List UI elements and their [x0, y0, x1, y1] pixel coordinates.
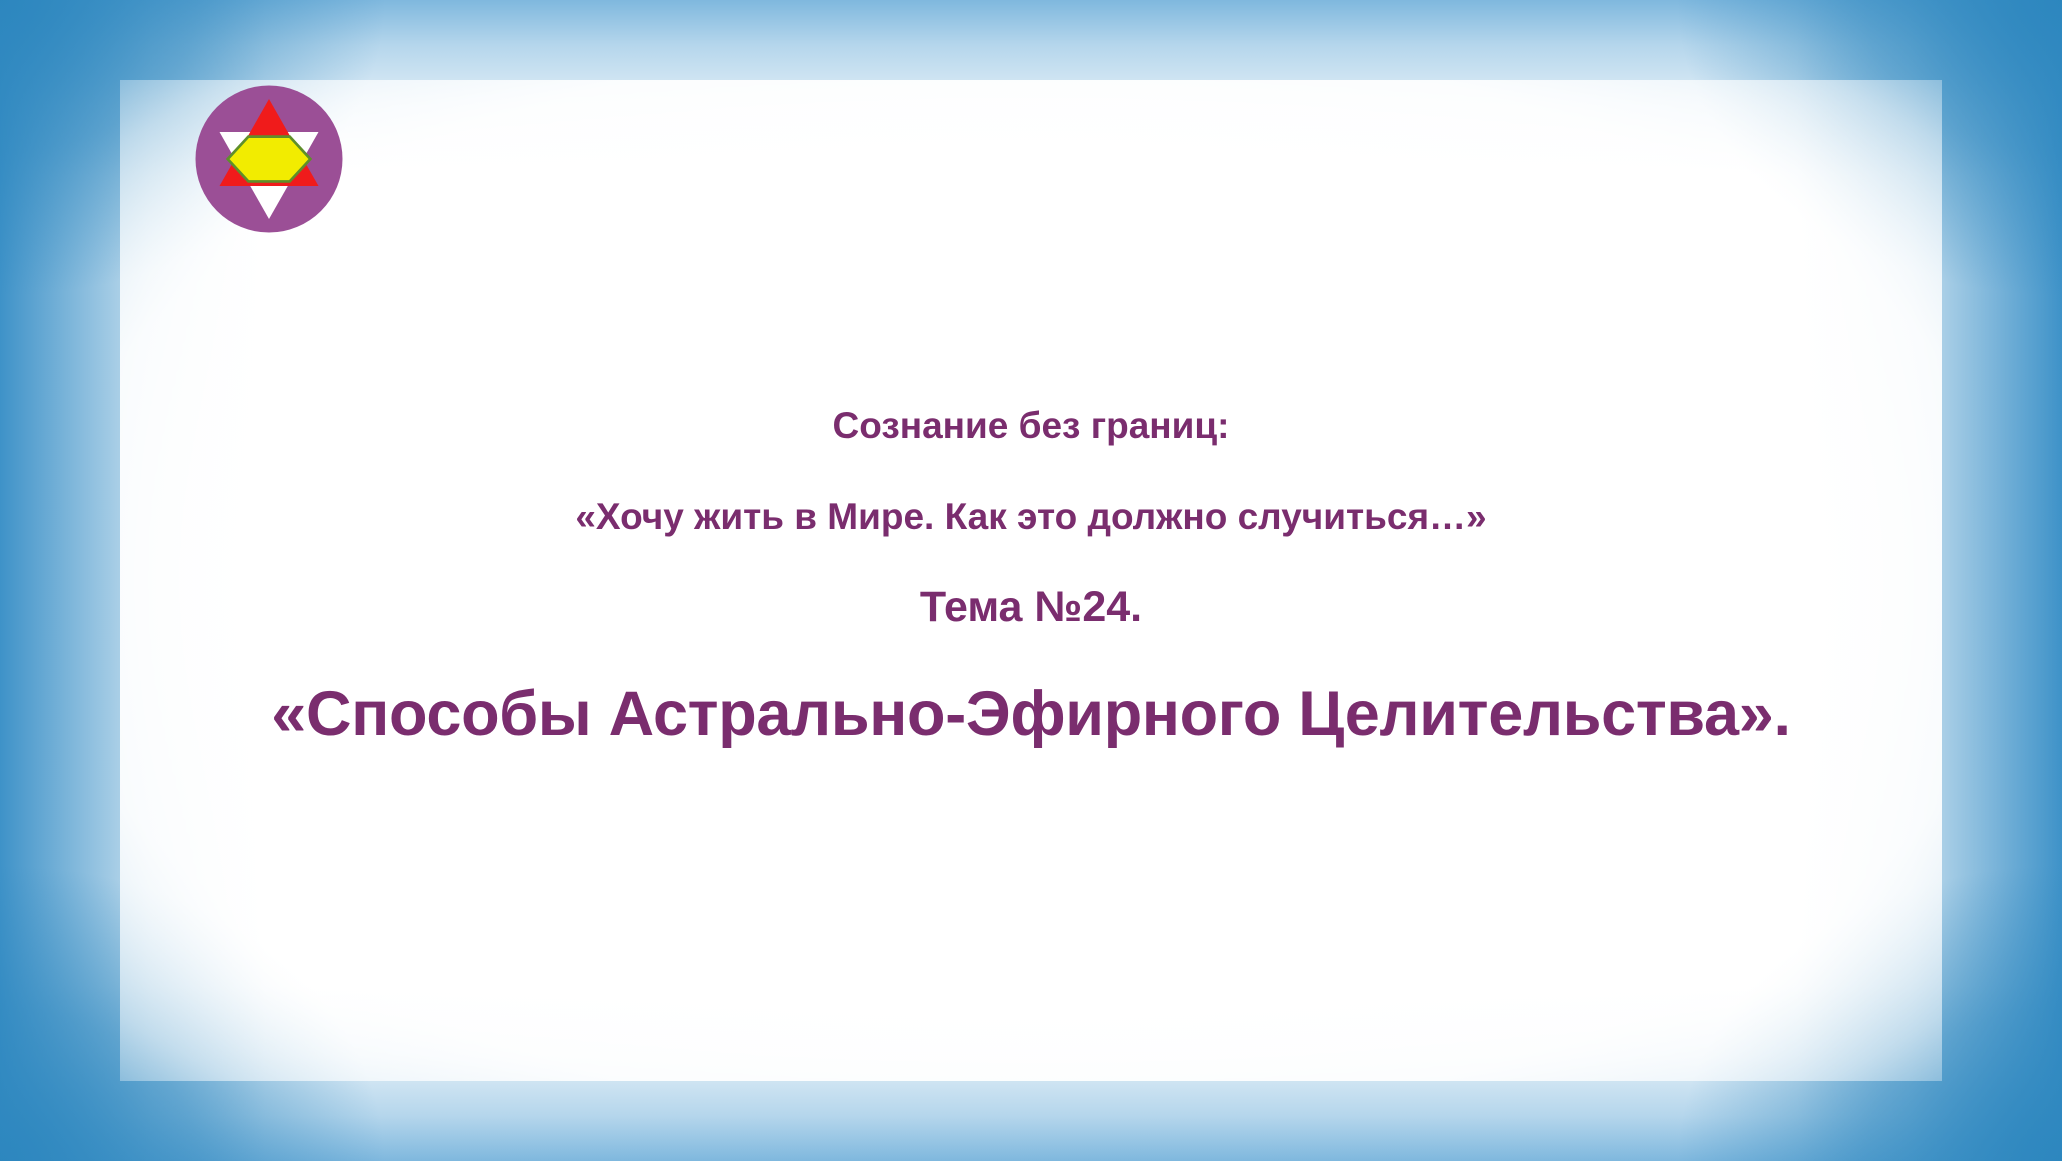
presentation-slide: Сознание без границ: «Хочу жить в Мире. …	[0, 0, 2062, 1161]
slide-text-block: Сознание без границ: «Хочу жить в Мире. …	[0, 404, 2062, 751]
star-of-david-logo	[194, 84, 344, 234]
slide-main-title: «Способы Астрально-Эфирного Целительства…	[0, 677, 2062, 751]
slide-topic-number: Тема №24.	[0, 582, 2062, 633]
slide-subtitle: Сознание без границ:	[0, 404, 2062, 448]
slide-quote: «Хочу жить в Мире. Как это должно случит…	[0, 495, 2062, 539]
